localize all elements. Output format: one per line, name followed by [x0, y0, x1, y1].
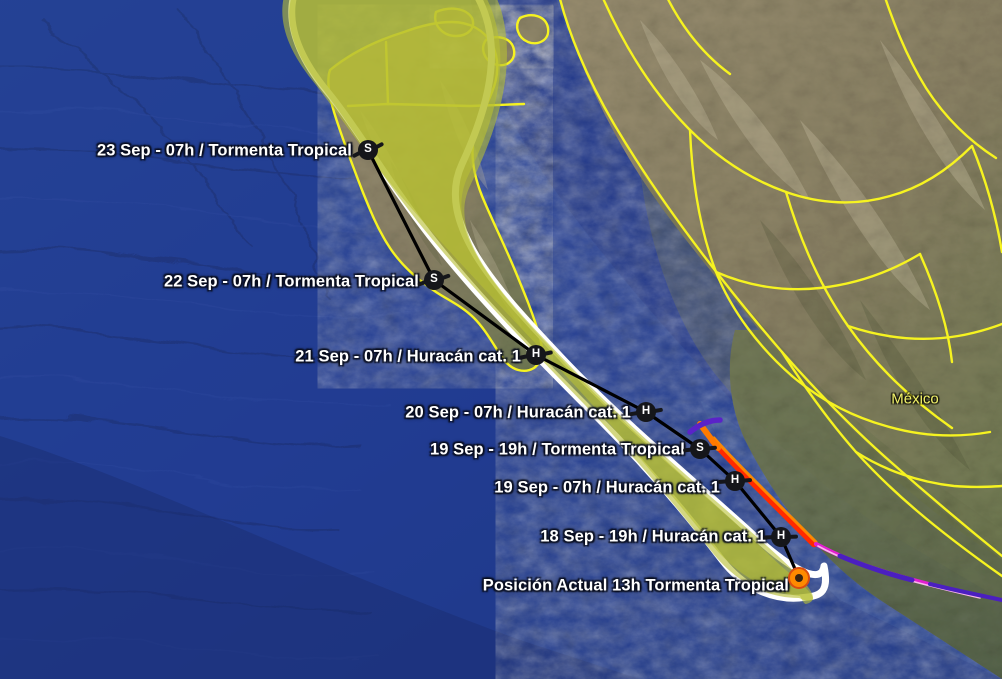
- storm-category-code: H: [526, 345, 546, 365]
- storm-category-code: S: [690, 439, 710, 459]
- storm-marker-22sep[interactable]: S: [421, 267, 447, 293]
- storm-marker-20sep[interactable]: H: [633, 399, 659, 425]
- storm-category-code: S: [358, 140, 378, 160]
- storm-marker-19sep-07h[interactable]: H: [722, 468, 748, 494]
- storm-marker-19sep-19h[interactable]: S: [687, 436, 713, 462]
- storm-marker-21sep[interactable]: H: [523, 342, 549, 368]
- storm-category-code: S: [424, 270, 444, 290]
- hurricane-forecast-map: 23 Sep - 07h / Tormenta Tropical 22 Sep …: [0, 0, 1002, 679]
- storm-category-code: H: [636, 402, 656, 422]
- current-position-marker[interactable]: [786, 565, 812, 591]
- storm-category-code: H: [771, 527, 791, 547]
- country-label-mexico: México: [891, 391, 939, 408]
- map-canvas: [0, 0, 1002, 679]
- storm-category-code: H: [725, 471, 745, 491]
- storm-marker-18sep[interactable]: H: [768, 524, 794, 550]
- current-position-core-icon: [795, 574, 803, 582]
- storm-marker-23sep[interactable]: S: [355, 137, 381, 163]
